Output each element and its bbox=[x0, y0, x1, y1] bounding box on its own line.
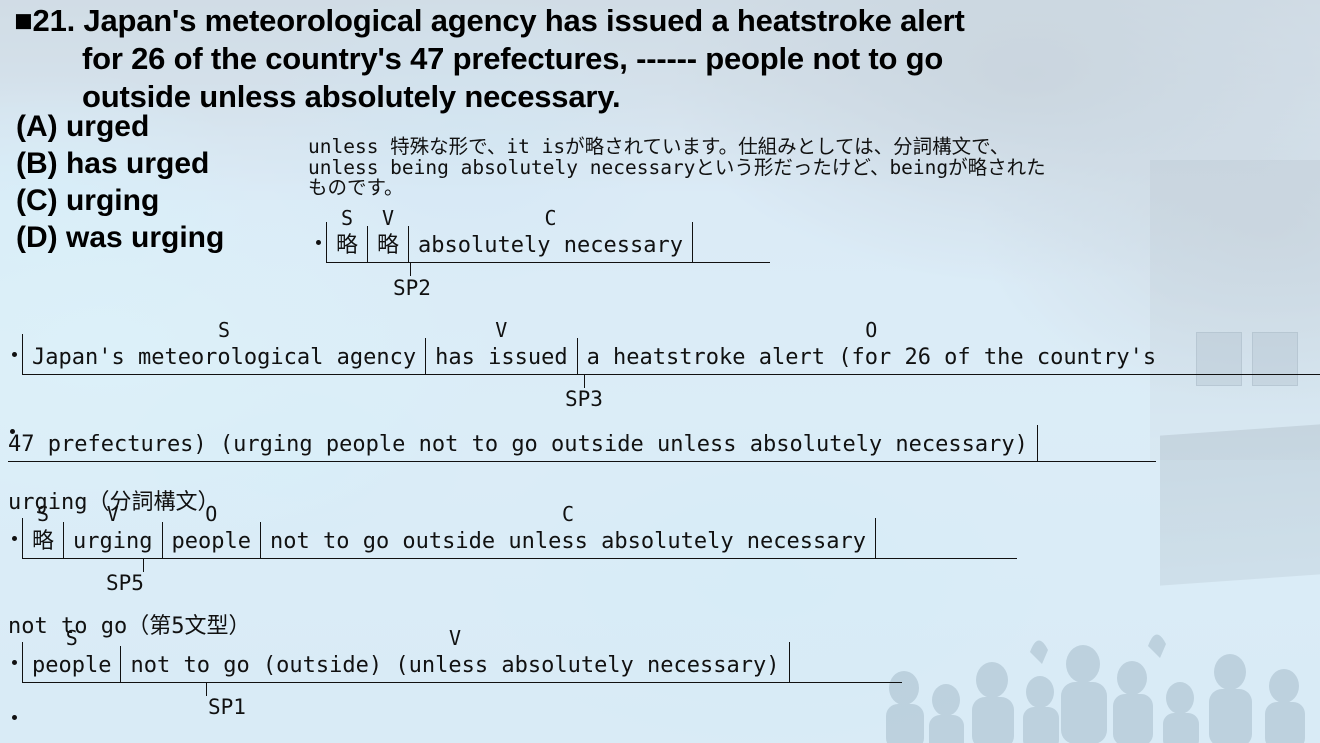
explanation-line-3: ものです。 bbox=[308, 178, 1316, 199]
cell-tag-o: O bbox=[865, 320, 877, 340]
question-line-2: for 26 of the country's 47 prefectures, … bbox=[14, 40, 1314, 78]
structure-frame: S 略 V urging O people C not to go outsid… bbox=[22, 518, 1017, 559]
cell-text-o: a heatstroke alert (for 26 of the countr… bbox=[587, 345, 1157, 370]
explanation-line-2: unless being absolutely necessaryという形だった… bbox=[308, 158, 1316, 179]
bullet-dot bbox=[12, 536, 17, 541]
frame-right-edge bbox=[789, 642, 790, 682]
structure-frame: S people V not to go (outside) (unless a… bbox=[22, 642, 902, 683]
bullet-dot bbox=[316, 240, 321, 245]
pattern-tick bbox=[410, 263, 411, 276]
structure-row: S 略 V urging O people C not to go outsid… bbox=[22, 518, 1017, 558]
frame-baseline bbox=[22, 682, 902, 683]
cell-text-s: 略 bbox=[32, 529, 54, 554]
structure-row: S people V not to go (outside) (unless a… bbox=[22, 642, 902, 682]
explanation-line-1: unless 特殊な形で、it isが略されています。仕組みとしては、分詞構文で… bbox=[308, 137, 1316, 158]
pattern-label-sp2: SP2 bbox=[393, 276, 431, 300]
frame-right-edge bbox=[875, 518, 876, 558]
frame-baseline bbox=[8, 461, 1156, 462]
cell-c: C not to go outside unless absolutely ne… bbox=[261, 526, 875, 558]
cell-tag-s: S bbox=[218, 320, 230, 340]
answer-choices: (A) urged (B) has urged (C) urging (D) w… bbox=[16, 108, 224, 256]
cell-c: C absolutely necessary bbox=[409, 230, 692, 262]
continuation-text: 47 prefectures) (urging people not to go… bbox=[8, 432, 1028, 457]
cell-tag-v: V bbox=[449, 628, 461, 648]
cell-s: S 略 bbox=[23, 526, 63, 558]
cell-continuation: 47 prefectures) (urging people not to go… bbox=[8, 429, 1037, 461]
frame-right-edge bbox=[692, 222, 693, 262]
cell-s: S Japan's meteorological agency bbox=[23, 342, 425, 374]
cell-v: V 略 bbox=[368, 230, 408, 262]
cell-tag-s: S bbox=[37, 504, 49, 524]
structure-row: S 略 V 略 C absolutely necessary bbox=[326, 222, 770, 262]
continuation-frame: 47 prefectures) (urging people not to go… bbox=[8, 425, 1156, 462]
structure-row: S Japan's meteorological agency V has is… bbox=[22, 334, 1320, 374]
pattern-label-sp5: SP5 bbox=[106, 571, 144, 595]
cell-o: O people bbox=[163, 526, 260, 558]
cell-tag-c: C bbox=[562, 504, 574, 524]
cell-text-s: Japan's meteorological agency bbox=[32, 345, 416, 370]
bullet-dot bbox=[12, 352, 17, 357]
pattern-tick bbox=[206, 683, 207, 696]
pattern-label-sp3: SP3 bbox=[565, 387, 603, 411]
diagram-not-to-go-header: not to go（第5文型） bbox=[8, 608, 250, 640]
pattern-label-sp1: SP1 bbox=[208, 695, 246, 719]
choice-b[interactable]: (B) has urged bbox=[16, 145, 224, 182]
cell-text-v: has issued bbox=[435, 345, 567, 370]
frame-baseline bbox=[326, 262, 770, 263]
frame-right-edge bbox=[1037, 425, 1038, 461]
cell-text-v: 略 bbox=[377, 233, 399, 258]
cell-tag-o: O bbox=[205, 504, 217, 524]
cell-tag-c: C bbox=[544, 208, 556, 228]
japanese-explanation: unless 特殊な形で、it isが略されています。仕組みとしては、分詞構文で… bbox=[308, 137, 1316, 199]
structure-frame: S 略 V 略 C absolutely necessary bbox=[326, 222, 770, 263]
choice-a[interactable]: (A) urged bbox=[16, 108, 224, 145]
cell-s: S 略 bbox=[327, 230, 367, 262]
cell-v: V urging bbox=[64, 526, 161, 558]
frame-baseline bbox=[22, 558, 1017, 559]
structure-frame: S Japan's meteorological agency V has is… bbox=[22, 334, 1320, 375]
cell-o: O a heatstroke alert (for 26 of the coun… bbox=[578, 342, 1166, 374]
question-line-1: ■21. Japan's meteorological agency has i… bbox=[14, 3, 965, 38]
frame-baseline bbox=[22, 374, 1320, 375]
cell-text-c: not to go outside unless absolutely nece… bbox=[270, 529, 866, 554]
cell-tag-v: V bbox=[495, 320, 507, 340]
cell-tag-s: S bbox=[341, 208, 353, 228]
cell-text-o: people bbox=[172, 529, 251, 554]
cell-tag-s: S bbox=[66, 628, 78, 648]
choice-c[interactable]: (C) urging bbox=[16, 182, 224, 219]
bullet-dot bbox=[12, 660, 17, 665]
bullet-dot-final bbox=[12, 715, 17, 720]
cell-text-s: people bbox=[32, 653, 111, 678]
cell-text-v: urging bbox=[73, 529, 152, 554]
choice-d[interactable]: (D) was urging bbox=[16, 219, 224, 256]
cell-text-c: absolutely necessary bbox=[418, 233, 683, 258]
cell-v: V has issued bbox=[426, 342, 576, 374]
cell-v: V not to go (outside) (unless absolutely… bbox=[121, 650, 788, 682]
cell-text-s: 略 bbox=[336, 233, 358, 258]
cell-s: S people bbox=[23, 650, 120, 682]
cell-tag-v: V bbox=[382, 208, 394, 228]
question-title: ■21. Japan's meteorological agency has i… bbox=[14, 2, 1314, 116]
cell-tag-v: V bbox=[107, 504, 119, 524]
cell-text-v: not to go (outside) (unless absolutely n… bbox=[130, 653, 779, 678]
structure-row: 47 prefectures) (urging people not to go… bbox=[8, 425, 1156, 461]
